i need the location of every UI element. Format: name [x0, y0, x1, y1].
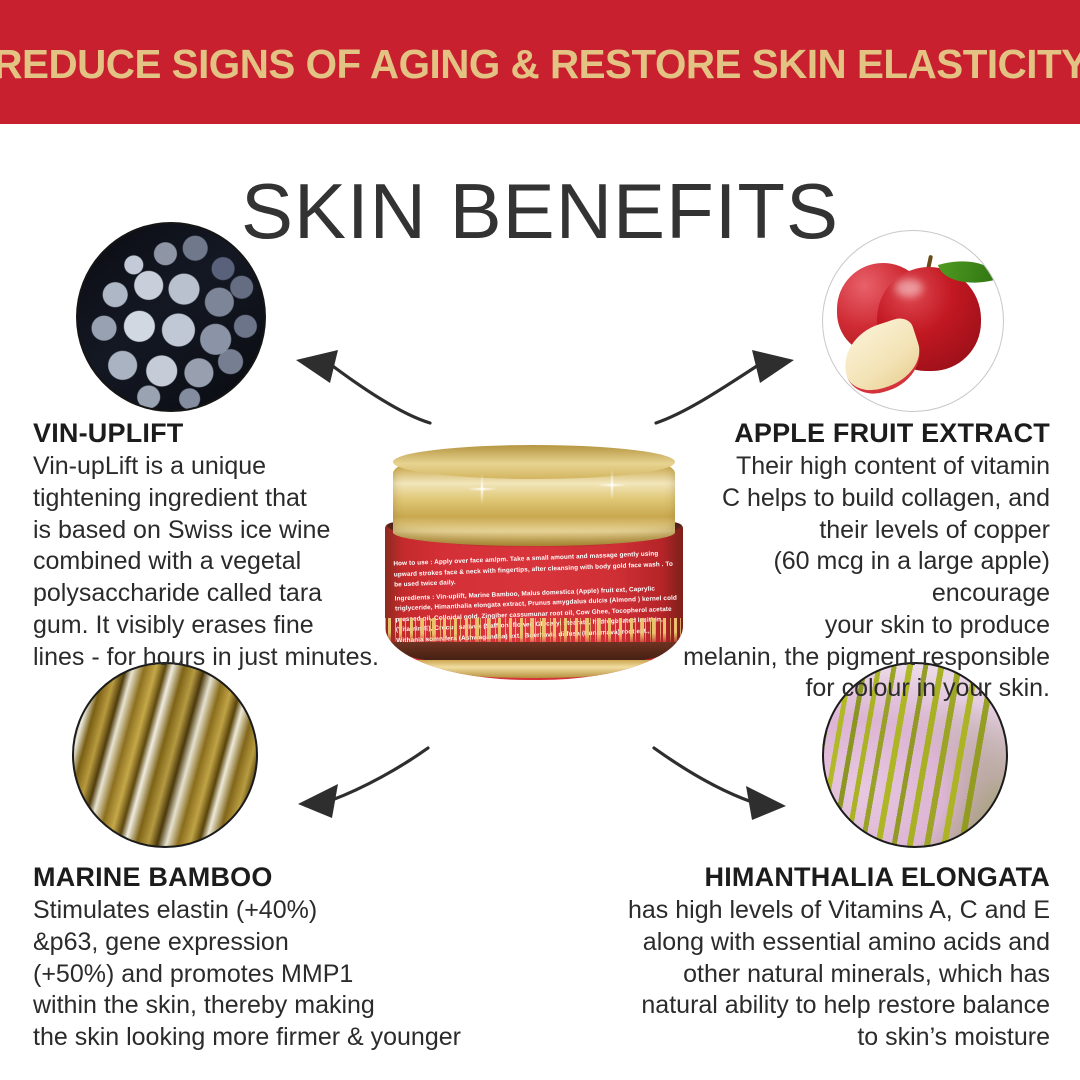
benefit-body: Stimulates elastin (+40%) &p63, gene exp…: [33, 895, 483, 1054]
frosted-grapes-photo: [76, 222, 266, 412]
header-banner: REDUCE SIGNS OF AGING & RESTORE SKIN ELA…: [0, 0, 1080, 124]
jar-lid-top: [393, 445, 675, 479]
red-apples-photo: [822, 230, 1004, 412]
header-banner-text: REDUCE SIGNS OF AGING & RESTORE SKIN ELA…: [0, 40, 1080, 85]
marine-bamboo-photo: [72, 662, 258, 848]
jar-label-ingredients-heading: Ingredients :: [395, 594, 435, 603]
apple-highlight-shape: [895, 279, 923, 297]
benefit-block-himanthalia-elongata: HIMANTHALIA ELONGATA has high levels of …: [600, 862, 1050, 1054]
benefit-block-vin-uplift: VIN-UPLIFT Vin-upLift is a unique tighte…: [33, 418, 413, 673]
benefit-heading: VIN-UPLIFT: [33, 418, 413, 448]
jar-label-how-to-use-heading: How to use :: [393, 559, 432, 567]
benefit-block-marine-bamboo: MARINE BAMBOO Stimulates elastin (+40%) …: [33, 862, 483, 1054]
arrow-to-himanthalia-elongata: [618, 738, 818, 848]
product-jar: How to use : Apply over face am/pm. Take…: [385, 448, 683, 680]
benefit-heading: MARINE BAMBOO: [33, 862, 483, 892]
benefit-body: Vin-upLift is a unique tightening ingred…: [33, 451, 413, 673]
sparkle-icon: [597, 470, 627, 500]
benefit-block-apple-fruit-extract: APPLE FRUIT EXTRACT Their high content o…: [660, 418, 1050, 705]
arrow-to-marine-bamboo: [282, 738, 482, 848]
benefit-body: has high levels of Vitamins A, C and E a…: [600, 895, 1050, 1054]
benefit-body: Their high content of vitamin C helps to…: [660, 451, 1050, 705]
benefit-heading: APPLE FRUIT EXTRACT: [660, 418, 1050, 448]
benefit-heading: HIMANTHALIA ELONGATA: [600, 862, 1050, 892]
sparkle-icon: [467, 474, 497, 504]
jar-base-gold-rim: [397, 660, 671, 678]
